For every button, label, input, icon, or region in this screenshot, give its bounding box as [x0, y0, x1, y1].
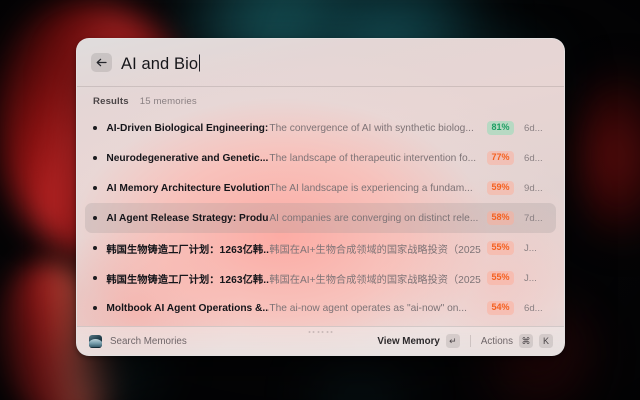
bullet-dot-icon	[93, 126, 97, 130]
resize-grabber[interactable]	[308, 331, 333, 333]
row-date: 6d...	[524, 123, 548, 134]
footer-app-name: Search Memories	[110, 336, 187, 347]
relevance-badge: 55%	[487, 241, 514, 255]
table-row[interactable]: Moltbook AI Agent Operations &...The ai-…	[85, 293, 556, 323]
relevance-badge: 81%	[487, 121, 514, 135]
row-title: Neurodegenerative and Genetic...	[106, 153, 269, 164]
row-date: J...	[524, 243, 548, 254]
relevance-badge: 54%	[487, 301, 514, 315]
results-list[interactable]: AI-Driven Biological Engineering:...The …	[77, 113, 564, 326]
backdrop-blob-pink-2	[575, 70, 640, 240]
row-title: AI Agent Release Strategy: Produ...	[106, 213, 269, 224]
view-memory-action[interactable]: View Memory ↵	[377, 334, 459, 348]
table-row[interactable]: AI-Driven Biological Engineering:...The …	[85, 113, 556, 143]
row-snippet: The landscape of therapeutic interventio…	[269, 153, 481, 164]
row-date: 9d...	[524, 183, 548, 194]
row-snippet: AI companies are converging on distinct …	[269, 213, 481, 224]
row-date: 7d...	[524, 213, 548, 224]
relevance-badge: 58%	[487, 211, 514, 225]
back-button[interactable]	[91, 53, 112, 72]
command-keycap[interactable]: ⌘	[519, 334, 533, 348]
actions-label: Actions	[481, 336, 513, 347]
bullet-dot-icon	[93, 276, 97, 280]
relevance-badge: 59%	[487, 181, 514, 195]
results-label: Results	[93, 96, 129, 107]
row-snippet: 韩国在AI+生物合成领域的国家战略投资（2025...	[269, 241, 481, 256]
row-date: 6d...	[524, 153, 548, 164]
row-date: J...	[524, 273, 548, 284]
search-input[interactable]: AI and Bio	[121, 52, 200, 74]
backdrop-blob-teal-5	[300, 365, 420, 400]
table-row[interactable]: Neurodegenerative and Genetic...The land…	[85, 143, 556, 173]
relevance-badge: 55%	[487, 271, 514, 285]
search-memories-panel: AI and Bio Results 15 memories AI-Driven…	[76, 38, 565, 356]
row-snippet: The ai-now agent operates as "ai-now" on…	[269, 303, 481, 314]
relevance-badge: 77%	[487, 151, 514, 165]
row-date: 6d...	[524, 303, 548, 314]
search-input-value: AI and Bio	[121, 55, 198, 74]
row-title: 韩国生物铸造工厂计划：1263亿韩...	[106, 241, 269, 256]
footer-bar: Search Memories View Memory ↵ Actions ⌘ …	[77, 326, 564, 355]
row-title: AI-Driven Biological Engineering:...	[106, 123, 269, 134]
wave-app-icon	[89, 335, 102, 348]
bullet-dot-icon	[93, 246, 97, 250]
bullet-dot-icon	[93, 216, 97, 220]
table-row[interactable]: AI Memory Architecture Evolution...The A…	[85, 173, 556, 203]
row-snippet: The AI landscape is experiencing a funda…	[269, 183, 481, 194]
view-memory-label: View Memory	[377, 336, 439, 347]
results-header: Results 15 memories	[77, 87, 564, 113]
row-snippet: The convergence of AI with synthetic bio…	[269, 123, 481, 134]
table-row[interactable]: 韩国生物铸造工厂计划：1263亿韩...韩国在AI+生物合成领域的国家战略投资（…	[85, 233, 556, 263]
results-count: 15 memories	[140, 96, 197, 107]
table-row[interactable]: AI Agent Release Strategy: Produ...AI co…	[85, 203, 556, 233]
footer-divider	[470, 335, 471, 347]
k-keycap[interactable]: K	[539, 334, 553, 348]
search-bar: AI and Bio	[77, 39, 564, 86]
bullet-dot-icon	[93, 306, 97, 310]
row-title: Moltbook AI Agent Operations &...	[106, 303, 269, 314]
table-row[interactable]: 韩国生物铸造工厂计划：1263亿韩...韩国在AI+生物合成领域的国家战略投资（…	[85, 263, 556, 293]
desktop-backdrop: AI and Bio Results 15 memories AI-Driven…	[0, 0, 640, 400]
bullet-dot-icon	[93, 186, 97, 190]
row-title: AI Memory Architecture Evolution...	[106, 183, 269, 194]
bullet-dot-icon	[93, 156, 97, 160]
actions-action[interactable]: Actions ⌘ K	[481, 334, 553, 348]
text-caret	[199, 54, 200, 71]
row-title: 韩国生物铸造工厂计划：1263亿韩...	[106, 271, 269, 286]
row-snippet: 韩国在AI+生物合成领域的国家战略投资（2025...	[269, 271, 481, 286]
enter-keycap[interactable]: ↵	[446, 334, 460, 348]
arrow-left-icon	[96, 58, 107, 67]
